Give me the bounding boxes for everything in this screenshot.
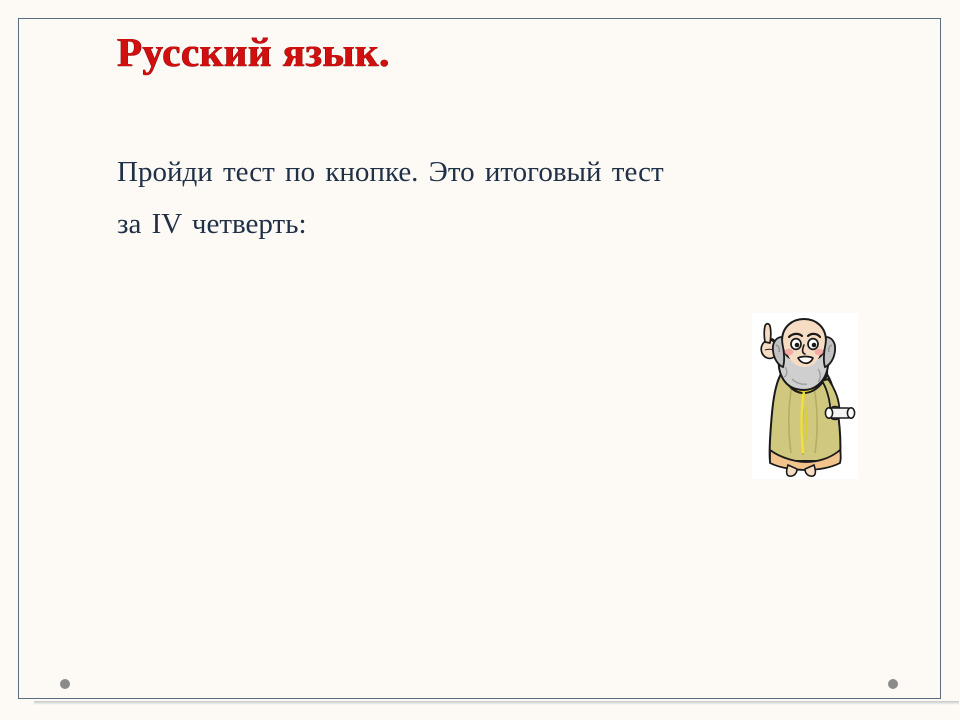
scroll-icon xyxy=(825,408,854,418)
slide-frame-shadow xyxy=(34,701,959,705)
slide-canvas: Русский язык. Пройди тест по кнопке. Это… xyxy=(0,0,960,720)
instruction-text: Пройди тест по кнопке. Это итоговый тест… xyxy=(117,146,907,250)
philosopher-illustration xyxy=(752,313,858,479)
bottom-left-dot xyxy=(60,679,70,689)
philosopher-icon xyxy=(752,313,858,479)
page-title: Русский язык. xyxy=(117,28,390,76)
bottom-right-dot xyxy=(888,679,898,689)
